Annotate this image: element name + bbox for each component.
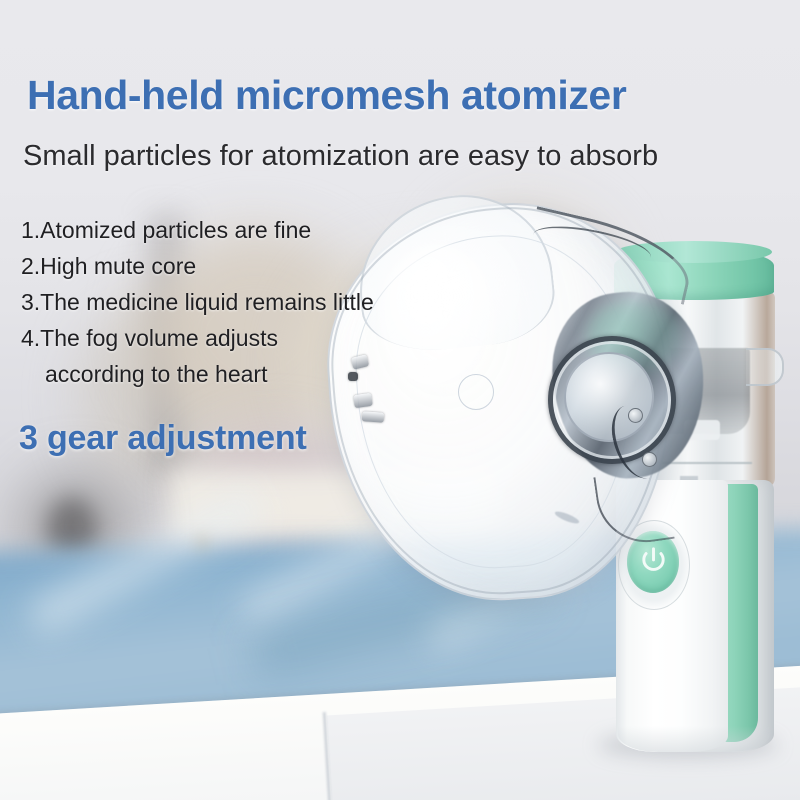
mask-strap-clip [353, 393, 373, 408]
list-item-continuation: according to the heart [21, 356, 374, 392]
mask-highlight [378, 244, 498, 394]
page-title: Hand-held micromesh atomizer [27, 72, 626, 119]
list-item: 3.The medicine liquid remains little [21, 284, 374, 320]
list-item: 1.Atomized particles are fine [21, 212, 374, 248]
page-subtitle: Small particles for atomization are easy… [23, 140, 658, 173]
feature-list: 1.Atomized particles are fine 2.High mut… [21, 212, 374, 392]
reservoir-side-clip [746, 348, 784, 386]
list-item: 2.High mute core [21, 248, 374, 284]
device-base-bevel [618, 726, 770, 752]
mask-vent-hole [458, 374, 494, 410]
nebulizer-mask [318, 196, 708, 601]
connector-screw [628, 408, 643, 423]
connector-screw [642, 452, 657, 467]
list-item: 4.The fog volume adjusts [21, 320, 374, 356]
mask-strap-clip [362, 411, 385, 423]
product-poster: Hand-held micromesh atomizer Small parti… [0, 0, 800, 800]
tagline: 3 gear adjustment [19, 419, 307, 458]
